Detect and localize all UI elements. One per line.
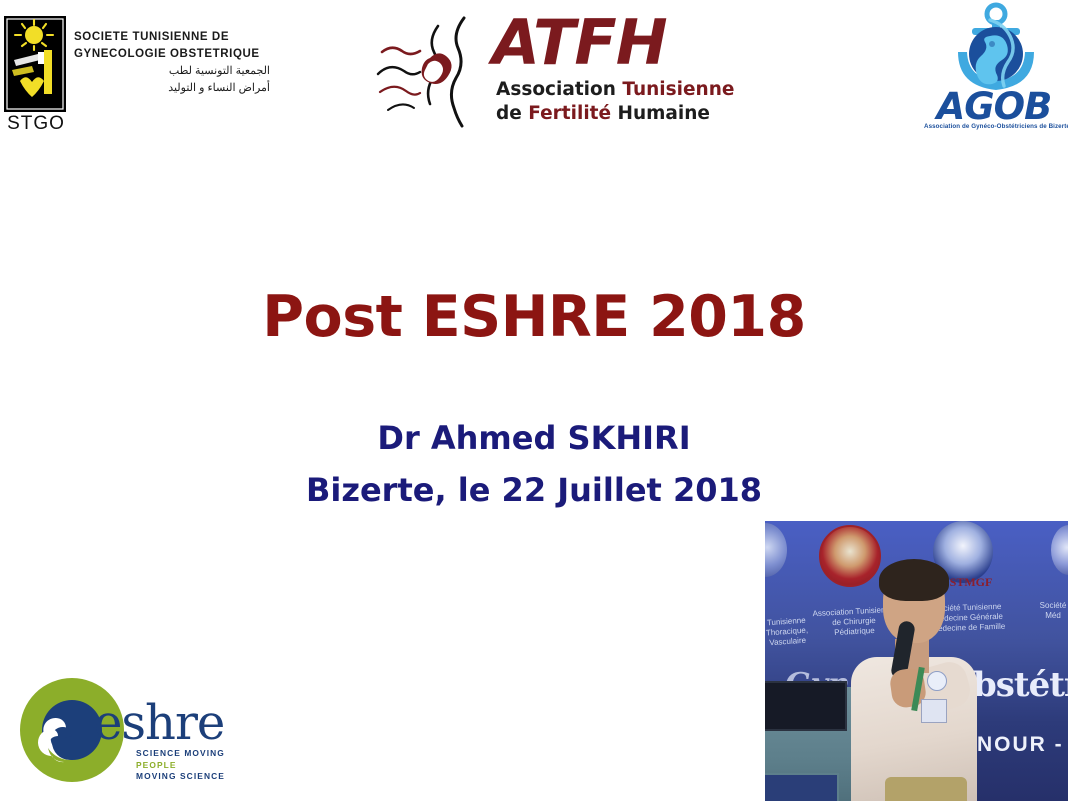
event-location-date: Bizerte, le 22 Juillet 2018: [0, 464, 1068, 516]
speaker-photo: STMGF Tunisienne Thoracique, Vasculaire …: [765, 521, 1068, 801]
agob-acronym: AGOB: [924, 88, 1064, 125]
stgo-logo: STGO SOCIETE TUNISIENNE DE GYNECOLOGIE O…: [4, 16, 266, 138]
atfh-emblem-icon: [368, 12, 498, 132]
eshre-tagline-line-1: SCIENCE MOVING: [136, 748, 246, 760]
atfh-sub2-part2: Fertilité: [528, 103, 611, 124]
backdrop-emblem-red: [819, 525, 881, 587]
atfh-subtitle-line-2: de Fertilité Humaine: [496, 102, 710, 126]
atfh-acronym: ATFH: [492, 10, 667, 76]
atfh-sub2-part3: Humaine: [611, 103, 710, 124]
stgo-arabic-line-2: أمراض النساء و التوليد: [74, 80, 270, 97]
eshre-tagline-line-2: PEOPLE: [136, 760, 246, 772]
backdrop-stmgf-label: STMGF: [941, 575, 1001, 590]
podium-lower-panel: [765, 773, 839, 801]
stgo-arabic-line-1: الجمعية التونسية لطب: [74, 63, 270, 80]
atfh-emblem-svg: [368, 12, 498, 132]
stgo-text-block: SOCIETE TUNISIENNE DE GYNECOLOGIE OBSTET…: [74, 29, 270, 97]
backdrop-obstetrique-text: bstétri: [973, 665, 1068, 705]
stgo-name-line-2: GYNECOLOGIE OBSTETRIQUE: [74, 46, 270, 63]
eshre-wordmark: eshre: [94, 698, 224, 748]
eshre-tagline: SCIENCE MOVING PEOPLE MOVING SCIENCE: [136, 748, 246, 783]
agob-anchor-fetus-icon: [946, 2, 1046, 98]
eshre-tagline-line-3: MOVING SCIENCE: [136, 771, 246, 783]
atfh-logo: ATFH Association Tunisienne de Fertilité…: [368, 12, 718, 134]
backdrop-thoracique-label: Tunisienne Thoracique, Vasculaire: [765, 615, 814, 649]
podium-monitor: [765, 681, 847, 731]
speaker-hair: [879, 559, 949, 601]
presentation-slide: STGO SOCIETE TUNISIENNE DE GYNECOLOGIE O…: [0, 0, 1068, 801]
agob-tagline: Association de Gynéco-Obstétriciens de B…: [924, 123, 1064, 130]
atfh-subtitle-line-1: Association Tunisienne: [496, 78, 734, 102]
page-title: Post ESHRE 2018: [0, 286, 1068, 348]
stgo-emblem-icon: [4, 16, 66, 112]
eshre-logo: eshre SCIENCE MOVING PEOPLE MOVING SCIEN…: [18, 676, 238, 788]
speaker-badge: [921, 699, 947, 723]
atfh-sub1-part1: Association: [496, 79, 622, 100]
backdrop-nour-text: NOUR -: [977, 733, 1064, 757]
speaker-trousers: [885, 777, 967, 801]
subtitle-block: Dr Ahmed SKHIRI Bizerte, le 22 Juillet 2…: [0, 412, 1068, 516]
stgo-name-line-1: SOCIETE TUNISIENNE DE: [74, 29, 270, 46]
speaker-lapel-pin: [927, 671, 947, 691]
backdrop-right-label: Société Méd: [1033, 601, 1068, 621]
presenter-name: Dr Ahmed SKHIRI: [0, 412, 1068, 464]
title-block: Post ESHRE 2018: [0, 286, 1068, 348]
atfh-sub2-part1: de: [496, 103, 528, 124]
atfh-sub1-part2: Tunisienne: [622, 79, 734, 100]
stgo-emblem-svg: [4, 16, 66, 112]
stgo-acronym: STGO: [4, 113, 68, 135]
agob-logo: AGOB Association de Gynéco-Obstétriciens…: [924, 2, 1064, 138]
agob-emblem-svg: [946, 2, 1046, 98]
